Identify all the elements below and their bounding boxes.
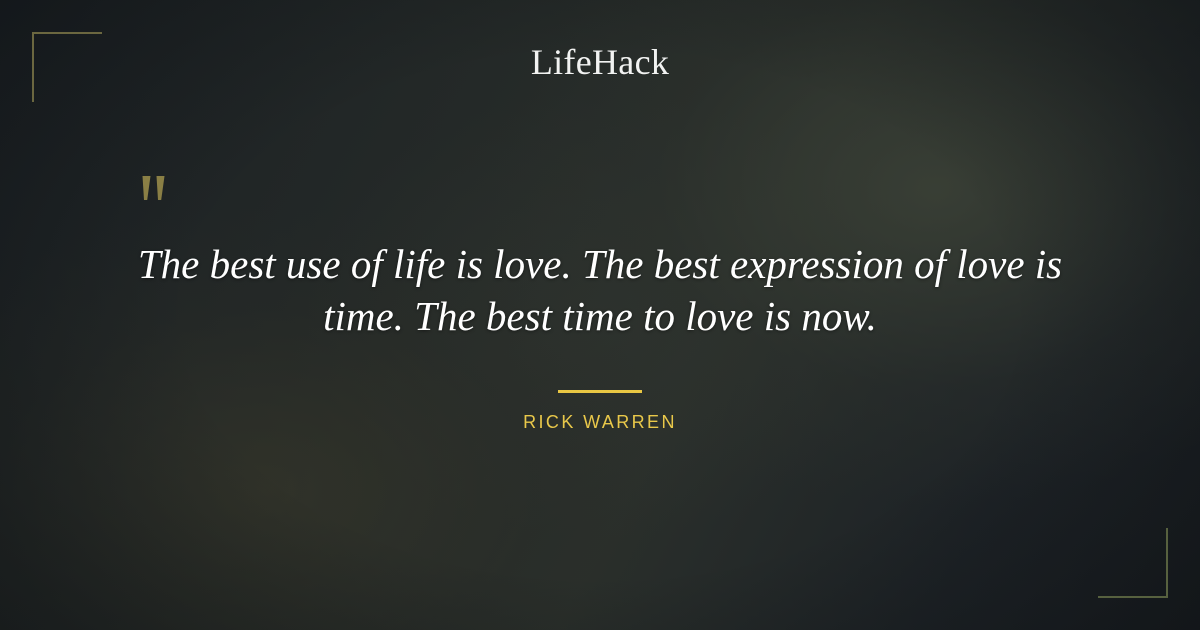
quote-line-2: time. The best time to love is now. bbox=[100, 290, 1100, 342]
author-attribution: RICK WARREN bbox=[0, 412, 1200, 433]
brand-logo-text: LifeHack bbox=[531, 42, 669, 82]
author-name: RICK WARREN bbox=[523, 412, 677, 432]
divider-wrapper bbox=[0, 380, 1200, 398]
brand-logo: LifeHack bbox=[0, 40, 1200, 84]
corner-bracket-bottom-right-icon bbox=[1098, 528, 1168, 598]
quote-card: LifeHack The best use of life is love. T… bbox=[0, 0, 1200, 630]
horizontal-rule-icon bbox=[558, 390, 642, 393]
quote-line-1: The best use of life is love. The best e… bbox=[100, 238, 1100, 290]
quote-block: The best use of life is love. The best e… bbox=[100, 238, 1100, 342]
double-quote-mark-icon bbox=[133, 172, 179, 218]
